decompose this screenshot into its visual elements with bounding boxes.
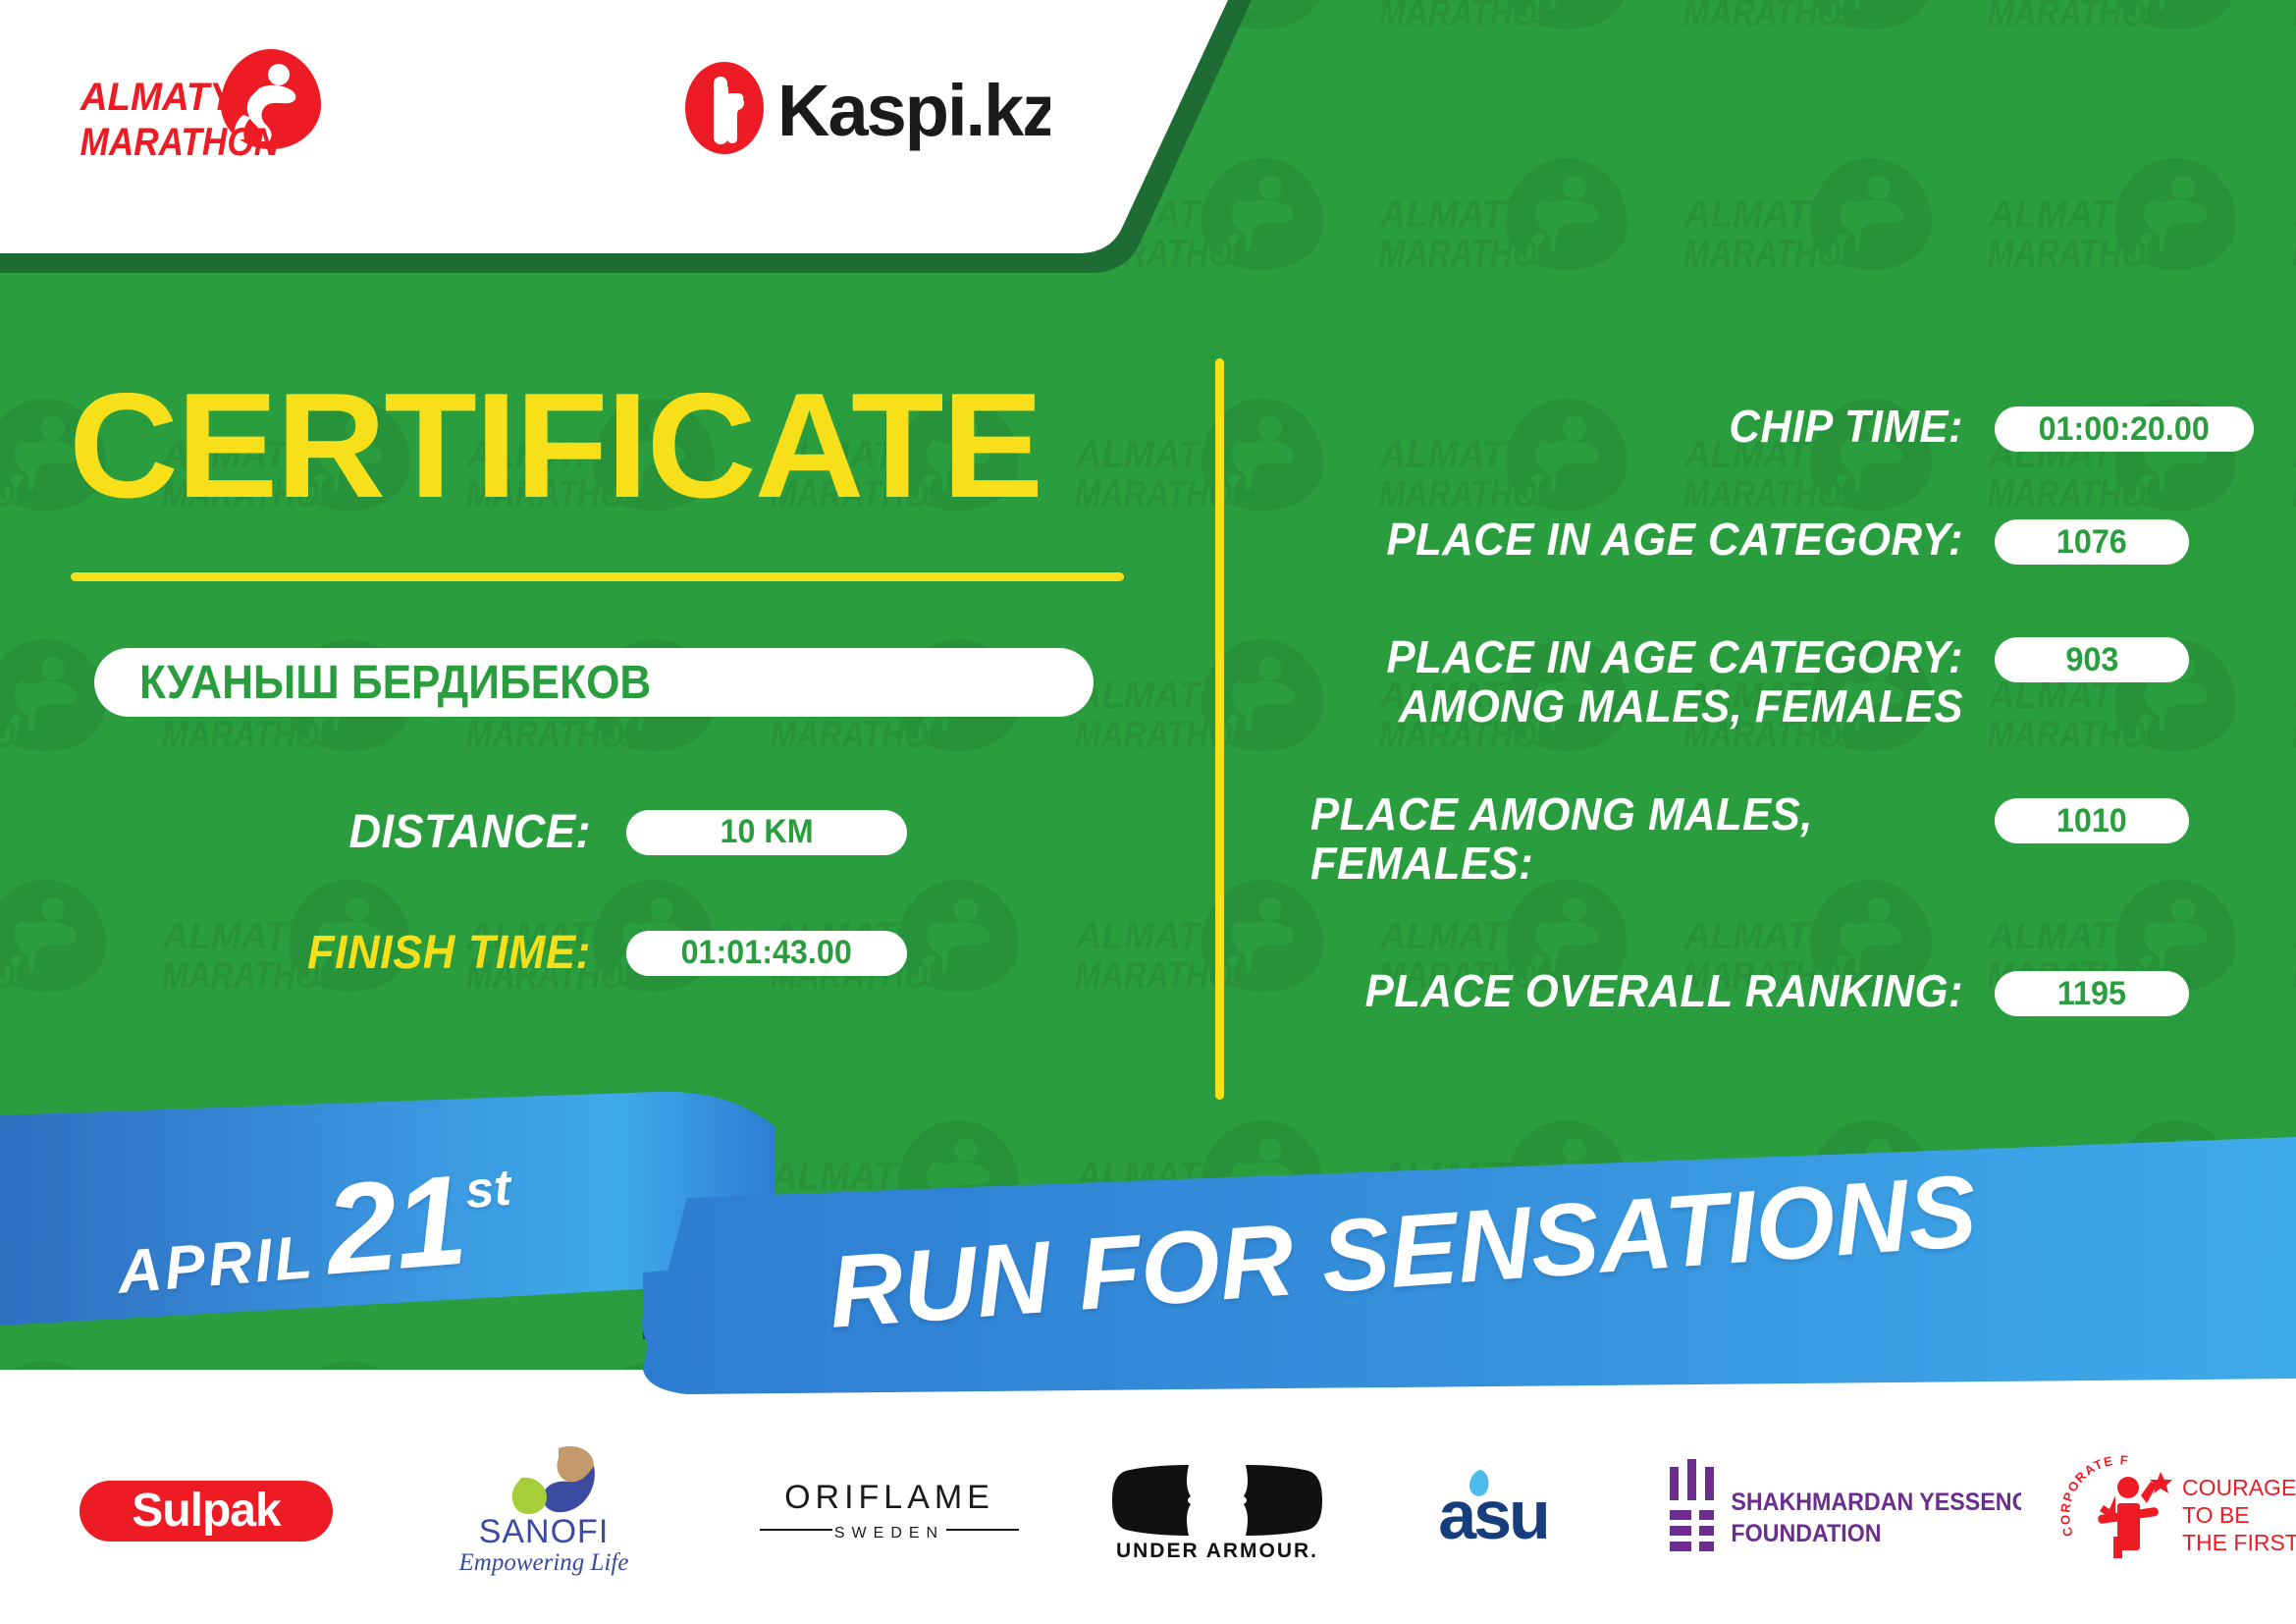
event-day-suffix: st bbox=[463, 1159, 513, 1221]
place-overall-ranking-label: PLACE OVERALL RANKING: bbox=[1310, 967, 1963, 1016]
watermark-tile: ALMATYMARATHON bbox=[2287, 383, 2296, 579]
place-age-category-among-row: PLACE IN AGE CATEGORY: AMONG MALES, FEMA… bbox=[1276, 633, 2189, 731]
watermark-tile: ALMATYMARATHON bbox=[1983, 864, 2277, 1060]
svg-text:ALMATY: ALMATY bbox=[1988, 915, 2141, 957]
participant-name-field: КУАНЫШ БЕРДИБЕКОВ bbox=[94, 648, 1094, 717]
svg-text:MARATHON: MARATHON bbox=[1075, 953, 1256, 997]
svg-text:MARATHON: MARATHON bbox=[1075, 472, 1256, 515]
almaty-marathon-logo: ALMATY MARATHON bbox=[77, 43, 391, 165]
place-among-males-females-label-line1: PLACE AMONG MALES, bbox=[1310, 790, 1963, 839]
watermark-tile: ALMATYMARATHON bbox=[1374, 142, 1669, 339]
svg-text:MARATHON: MARATHON bbox=[466, 713, 648, 756]
svg-text:MARATHON: MARATHON bbox=[1683, 0, 1865, 34]
place-among-males-females-value-pill: 1010 bbox=[1995, 798, 2189, 843]
svg-text:ALMATY: ALMATY bbox=[1683, 915, 1837, 957]
watermark-tile: ALMATYMARATHON bbox=[1679, 0, 1973, 98]
place-among-males-females-row: PLACE AMONG MALES, FEMALES: 1010 bbox=[1276, 790, 1963, 888]
svg-text:MARATHON: MARATHON bbox=[1379, 232, 1561, 275]
sponsor-sanofi: SANOFI Empowering Life bbox=[405, 1431, 683, 1588]
svg-text:ALMATY: ALMATY bbox=[2292, 193, 2296, 236]
event-day: 21 bbox=[320, 1146, 469, 1304]
watermark-tile: ALMATYMARATHON bbox=[2287, 0, 2296, 98]
svg-text:Empowering Life: Empowering Life bbox=[458, 1549, 629, 1576]
watermark-tile: ALMATYMARATHON bbox=[1679, 142, 1973, 339]
svg-text:UNDER ARMOUR.: UNDER ARMOUR. bbox=[1116, 1540, 1318, 1562]
watermark-tile: ALMATYMARATHON bbox=[1983, 142, 2277, 339]
page-title: CERTIFICATE bbox=[69, 371, 1041, 520]
place-among-males-females-value: 1010 bbox=[2056, 802, 2127, 840]
svg-text:ALMATY: ALMATY bbox=[1075, 915, 1228, 957]
place-overall-ranking-value-pill: 1195 bbox=[1995, 971, 2189, 1016]
distance-label: DISTANCE: bbox=[287, 805, 591, 859]
svg-text:MARATHON: MARATHON bbox=[1075, 713, 1256, 756]
watermark-tile: ALMATYMARATHON bbox=[2287, 864, 2296, 1060]
distance-value: 10 KM bbox=[720, 813, 813, 851]
chip-time-value-pill: 01:00:20.00 bbox=[1995, 406, 2254, 452]
svg-text:MARATHON: MARATHON bbox=[162, 713, 344, 756]
svg-text:asu: asu bbox=[1438, 1477, 1548, 1553]
svg-text:ORIFLAME: ORIFLAME bbox=[784, 1479, 994, 1516]
sponsor-sulpak: Sulpak bbox=[69, 1431, 347, 1588]
svg-text:MARATHON: MARATHON bbox=[80, 120, 280, 164]
finish-time-label: FINISH TIME: bbox=[287, 926, 591, 980]
place-age-category-among-value: 903 bbox=[2065, 641, 2118, 679]
svg-text:ALMATY: ALMATY bbox=[2292, 675, 2296, 717]
chip-time-row: CHIP TIME: 01:00:20.00 bbox=[1276, 403, 2254, 452]
place-age-category-among-label-line2: AMONG MALES, FEMALES bbox=[1310, 682, 1963, 731]
place-age-category-value: 1076 bbox=[2056, 523, 2127, 562]
place-age-category-among-value-pill: 903 bbox=[1995, 637, 2189, 682]
finish-time-value: 01:01:43.00 bbox=[681, 934, 852, 972]
sponsor-courage-fund: CORPORATE FUND COURAGE TO BE THE FIRST! bbox=[2060, 1431, 2296, 1588]
svg-text:ALMATY: ALMATY bbox=[1379, 915, 1532, 957]
svg-text:MARATHON: MARATHON bbox=[2292, 0, 2296, 34]
sponsor-under-armour: UNDER ARMOUR. bbox=[1096, 1431, 1337, 1588]
svg-text:SHAKHMARDAN YESSENOV: SHAKHMARDAN YESSENOV bbox=[1731, 1489, 2021, 1516]
event-month: APRIL bbox=[115, 1222, 317, 1308]
title-divider bbox=[71, 572, 1124, 581]
svg-text:MARATHON: MARATHON bbox=[2292, 713, 2296, 756]
chip-time-label: CHIP TIME: bbox=[1310, 403, 1963, 452]
place-age-category-among-label: PLACE IN AGE CATEGORY: AMONG MALES, FEMA… bbox=[1310, 633, 1963, 731]
svg-text:Sulpak: Sulpak bbox=[133, 1485, 283, 1537]
svg-text:ALMATY: ALMATY bbox=[80, 76, 239, 119]
svg-text:MARATHON: MARATHON bbox=[1683, 472, 1865, 515]
svg-text:MARATHON: MARATHON bbox=[0, 472, 39, 515]
place-age-category-row: PLACE IN AGE CATEGORY: 1076 bbox=[1276, 515, 2189, 565]
svg-text:ALMATY: ALMATY bbox=[1988, 193, 2141, 236]
sponsor-oriflame: ORIFLAME SWEDEN bbox=[742, 1431, 1039, 1588]
svg-text:SWEDEN: SWEDEN bbox=[834, 1525, 944, 1542]
sponsor-bar: Sulpak SANOFI Empowering Life ORIFLAME S… bbox=[0, 1394, 2296, 1624]
distance-value-pill: 10 KM bbox=[626, 810, 907, 855]
svg-text:MARATHON: MARATHON bbox=[1379, 472, 1561, 515]
place-overall-ranking-value: 1195 bbox=[2057, 975, 2126, 1013]
svg-text:MARATHON: MARATHON bbox=[0, 953, 39, 997]
svg-text:THE FIRST!: THE FIRST! bbox=[2182, 1530, 2296, 1555]
svg-text:MARATHON: MARATHON bbox=[1988, 232, 2169, 275]
place-age-category-among-label-line1: PLACE IN AGE CATEGORY: bbox=[1310, 633, 1963, 682]
svg-text:ALMATY: ALMATY bbox=[2292, 915, 2296, 957]
svg-text:COURAGE: COURAGE bbox=[2182, 1475, 2296, 1500]
svg-text:MARATHON: MARATHON bbox=[2292, 472, 2296, 515]
vertical-divider bbox=[1215, 358, 1224, 1100]
watermark-tile: ALMATYMARATHON bbox=[0, 864, 147, 1060]
svg-text:Kaspi.kz: Kaspi.kz bbox=[777, 70, 1050, 151]
svg-text:ALMATY: ALMATY bbox=[1075, 434, 1228, 476]
watermark-tile: ALMATYMARATHON bbox=[2287, 623, 2296, 820]
place-among-males-females-label: PLACE AMONG MALES, FEMALES: bbox=[1310, 790, 1963, 888]
chip-time-value: 01:00:20.00 bbox=[2039, 410, 2210, 449]
place-among-males-females-label-line2: FEMALES: bbox=[1310, 839, 1963, 889]
place-overall-ranking-row: PLACE OVERALL RANKING: 1195 bbox=[1276, 967, 2189, 1016]
place-age-category-value-pill: 1076 bbox=[1995, 519, 2189, 565]
svg-text:MARATHON: MARATHON bbox=[1988, 472, 2169, 515]
svg-text:MARATHON: MARATHON bbox=[0, 713, 39, 756]
watermark-tile: ALMATYMARATHON bbox=[1374, 0, 1669, 98]
svg-text:FOUNDATION: FOUNDATION bbox=[1731, 1520, 1881, 1547]
place-age-category-label: PLACE IN AGE CATEGORY: bbox=[1310, 515, 1963, 565]
watermark-tile: ALMATYMARATHON bbox=[2287, 142, 2296, 339]
svg-text:SANOFI: SANOFI bbox=[479, 1513, 610, 1550]
finish-time-row: FINISH TIME: 01:01:43.00 bbox=[267, 926, 907, 980]
svg-text:TO BE: TO BE bbox=[2182, 1502, 2250, 1528]
svg-text:MARATHON: MARATHON bbox=[1379, 0, 1561, 34]
svg-text:MARATHON: MARATHON bbox=[771, 713, 952, 756]
kaspi-logo: Kaspi.kz bbox=[677, 57, 1050, 159]
sponsor-yessenov-foundation: SHAKHMARDAN YESSENOV FOUNDATION bbox=[1658, 1431, 2021, 1588]
svg-text:MARATHON: MARATHON bbox=[2292, 953, 2296, 997]
finish-time-value-pill: 01:01:43.00 bbox=[626, 931, 907, 976]
svg-text:ALMATY: ALMATY bbox=[1379, 193, 1532, 236]
svg-text:MARATHON: MARATHON bbox=[1988, 0, 2169, 34]
svg-text:ALMATY: ALMATY bbox=[1683, 193, 1837, 236]
distance-row: DISTANCE: 10 KM bbox=[267, 805, 907, 859]
participant-name-value: КУАНЫШ БЕРДИБЕКОВ bbox=[139, 656, 651, 710]
svg-text:ALMATY: ALMATY bbox=[1075, 675, 1228, 717]
svg-text:MARATHON: MARATHON bbox=[2292, 232, 2296, 275]
sponsor-asu: asu bbox=[1391, 1431, 1604, 1588]
certificate-page: ALMATYMARATHONALMATYMARATHONALMATYMARATH… bbox=[0, 0, 2296, 1624]
watermark-tile: ALMATYMARATHON bbox=[1374, 864, 1669, 1060]
svg-text:MARATHON: MARATHON bbox=[1683, 232, 1865, 275]
watermark-tile: ALMATYMARATHON bbox=[1679, 864, 1973, 1060]
watermark-tile: ALMATYMARATHON bbox=[1983, 0, 2277, 98]
svg-text:ALMATY: ALMATY bbox=[2292, 434, 2296, 476]
